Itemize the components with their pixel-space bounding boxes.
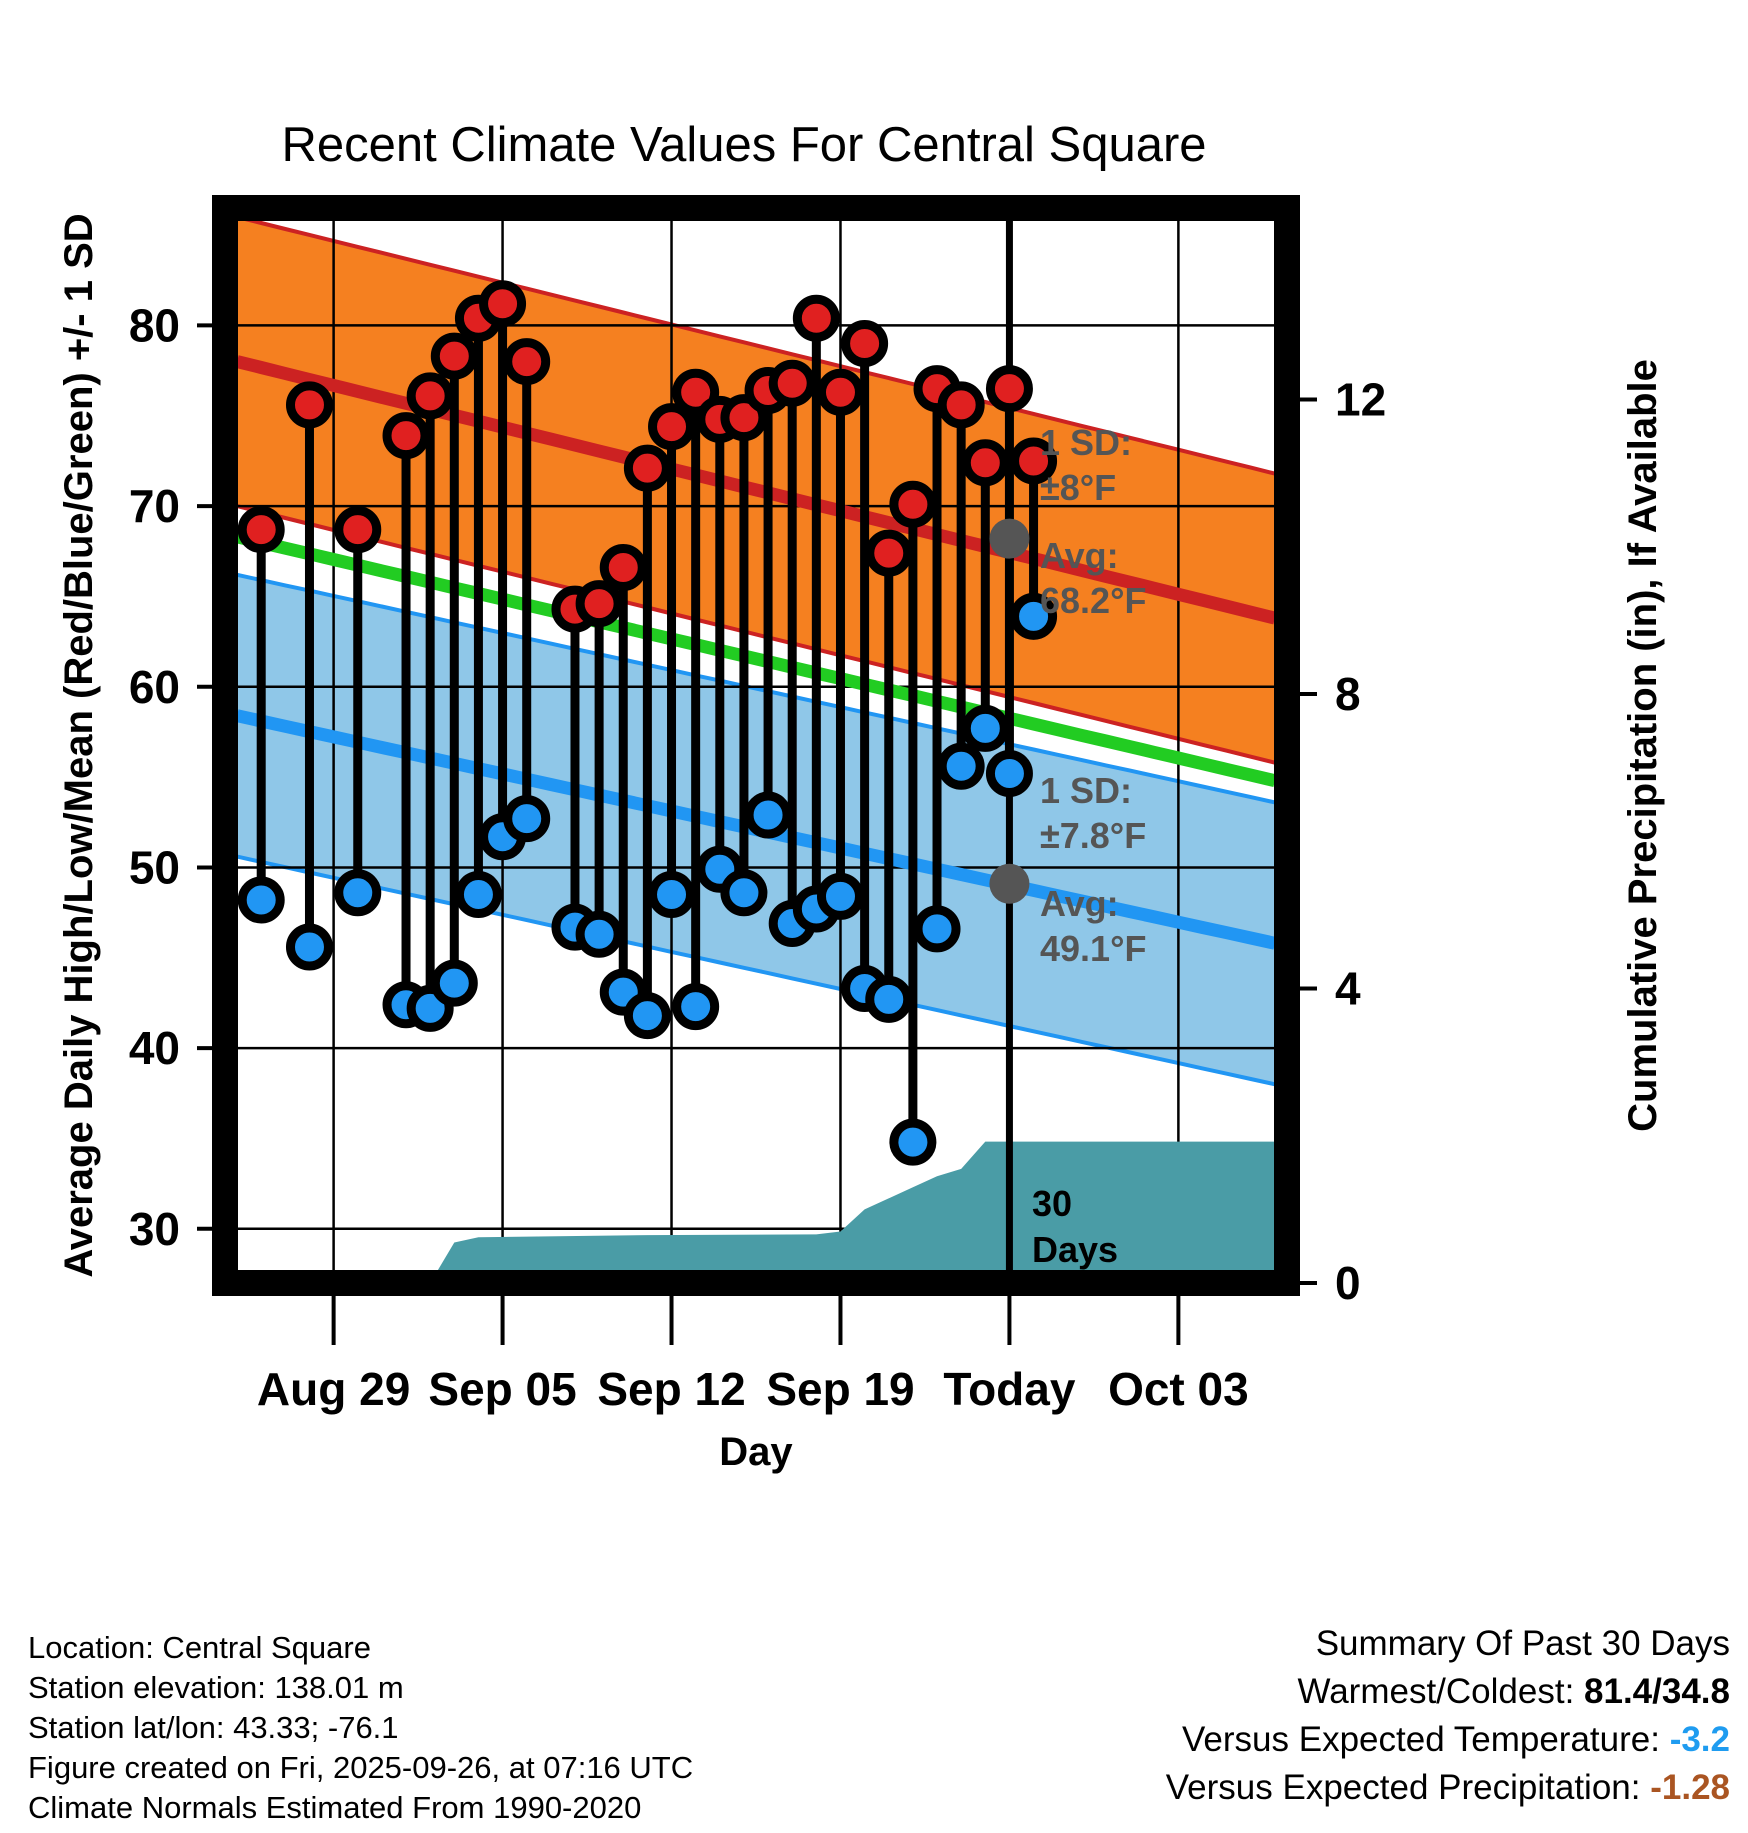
chart-title: Recent Climate Values For Central Square (281, 118, 1206, 172)
y-axis-title-right: Cumulative Precipitation (in), If Availa… (1621, 359, 1665, 1132)
observed-low-marker (677, 988, 715, 1026)
ytick-label-left-40: 40 (129, 1022, 180, 1074)
observed-high-marker (387, 417, 425, 455)
ytick-label-right-0: 0 (1335, 1257, 1361, 1309)
observed-low-marker (435, 964, 473, 1002)
observed-high-marker (797, 299, 835, 337)
observed-low-marker (870, 980, 908, 1018)
warmest-coldest-value: 81.4/34.8 (1584, 1672, 1730, 1711)
observed-low-marker (942, 747, 980, 785)
low-sd-value: ±7.8°F (1040, 815, 1146, 856)
low-avg-value: 49.1°F (1040, 928, 1146, 969)
today-low-avg-dot (989, 864, 1029, 904)
ytick-label-left-60: 60 (129, 661, 180, 713)
observed-high-marker (966, 444, 1004, 482)
summary-heading: Summary Of Past 30 Days (1166, 1620, 1730, 1668)
observed-low-marker (821, 877, 859, 915)
xtick-label-0: Aug 29 (257, 1363, 410, 1415)
observed-low-marker (653, 876, 691, 914)
observed-high-marker (821, 373, 859, 411)
observed-low-marker (459, 876, 497, 914)
ytick-label-right-12: 12 (1335, 373, 1386, 425)
xtick-label-4: Today (943, 1363, 1075, 1415)
observed-high-marker (628, 449, 666, 487)
low-sd-label: 1 SD: (1040, 770, 1132, 811)
footer-line-3: Figure created on Fri, 2025-09-26, at 07… (28, 1748, 693, 1788)
precip-window-days-word: Days (1032, 1229, 1118, 1270)
xtick-label-5: Oct 03 (1108, 1363, 1249, 1415)
vs-temp-row: Versus Expected Temperature: -3.2 (1166, 1716, 1730, 1764)
observed-high-marker (990, 370, 1028, 408)
ytick-label-left-70: 70 (129, 480, 180, 532)
observed-high-marker (604, 549, 642, 587)
x-axis-title: Day (719, 1430, 793, 1474)
observed-high-marker (580, 585, 618, 623)
observed-low-marker (990, 755, 1028, 793)
observed-high-marker (242, 511, 280, 549)
high-avg-label: Avg: (1040, 535, 1119, 576)
observed-low-marker (918, 910, 956, 948)
ytick-label-left-50: 50 (129, 841, 180, 893)
vs-precip-row: Versus Expected Precipitation: -1.28 (1166, 1764, 1730, 1812)
observed-high-marker (870, 534, 908, 572)
footer-line-0: Location: Central Square (28, 1628, 693, 1668)
high-sd-label: 1 SD: (1040, 422, 1132, 463)
observed-low-marker (580, 915, 618, 953)
observed-high-marker (484, 285, 522, 323)
high-avg-value: 68.2°F (1040, 580, 1146, 621)
xtick-label-2: Sep 12 (597, 1363, 745, 1415)
observed-low-marker (725, 874, 763, 912)
low-avg-label: Avg: (1040, 883, 1119, 924)
footer-line-4: Climate Normals Estimated From 1990-2020 (28, 1788, 693, 1828)
observed-high-marker (411, 377, 449, 415)
observed-high-marker (773, 364, 811, 402)
footer-line-1: Station elevation: 138.01 m (28, 1668, 693, 1708)
observed-low-marker (339, 874, 377, 912)
observed-high-marker (894, 485, 932, 523)
high-sd-value: ±8°F (1040, 467, 1116, 508)
xtick-label-1: Sep 05 (428, 1363, 576, 1415)
xtick-label-3: Sep 19 (766, 1363, 914, 1415)
observed-low-marker (749, 796, 787, 834)
vs-precip-label: Versus Expected Precipitation: (1166, 1768, 1641, 1807)
footer-line-2: Station lat/lon: 43.33; -76.1 (28, 1708, 693, 1748)
observed-high-marker (942, 386, 980, 424)
climate-chart: Recent Climate Values For Central Square… (0, 0, 1748, 1828)
ytick-label-right-8: 8 (1335, 668, 1361, 720)
precip-window-days-number: 30 (1032, 1183, 1072, 1224)
summary-panel: Summary Of Past 30 Days Warmest/Coldest:… (1166, 1620, 1730, 1812)
observed-low-marker (242, 881, 280, 919)
observed-high-marker (508, 343, 546, 381)
footer-metadata: Location: Central SquareStation elevatio… (28, 1628, 693, 1828)
vs-precip-value: -1.28 (1650, 1768, 1730, 1807)
vs-temp-label: Versus Expected Temperature: (1182, 1720, 1660, 1759)
observed-high-marker (653, 408, 691, 446)
observed-low-marker (290, 928, 328, 966)
warmest-coldest-row: Warmest/Coldest: 81.4/34.8 (1166, 1668, 1730, 1716)
vs-temp-value: -3.2 (1670, 1720, 1730, 1759)
ytick-label-left-30: 30 (129, 1203, 180, 1255)
ytick-label-right-4: 4 (1335, 962, 1361, 1014)
observed-high-marker (290, 386, 328, 424)
observed-low-marker (894, 1123, 932, 1161)
warmest-coldest-label: Warmest/Coldest: (1297, 1672, 1574, 1711)
ytick-label-left-80: 80 (129, 299, 180, 351)
observed-high-marker (846, 325, 884, 363)
today-high-avg-dot (989, 519, 1029, 559)
observed-low-marker (966, 709, 1004, 747)
observed-high-marker (435, 337, 473, 375)
observed-high-marker (339, 511, 377, 549)
y-axis-title-left: Average Daily High/Low/Mean (Red/Blue/Gr… (57, 213, 101, 1277)
chart-svg: Recent Climate Values For Central Square… (0, 0, 1748, 1828)
observed-low-marker (628, 997, 666, 1035)
observed-low-marker (508, 800, 546, 838)
